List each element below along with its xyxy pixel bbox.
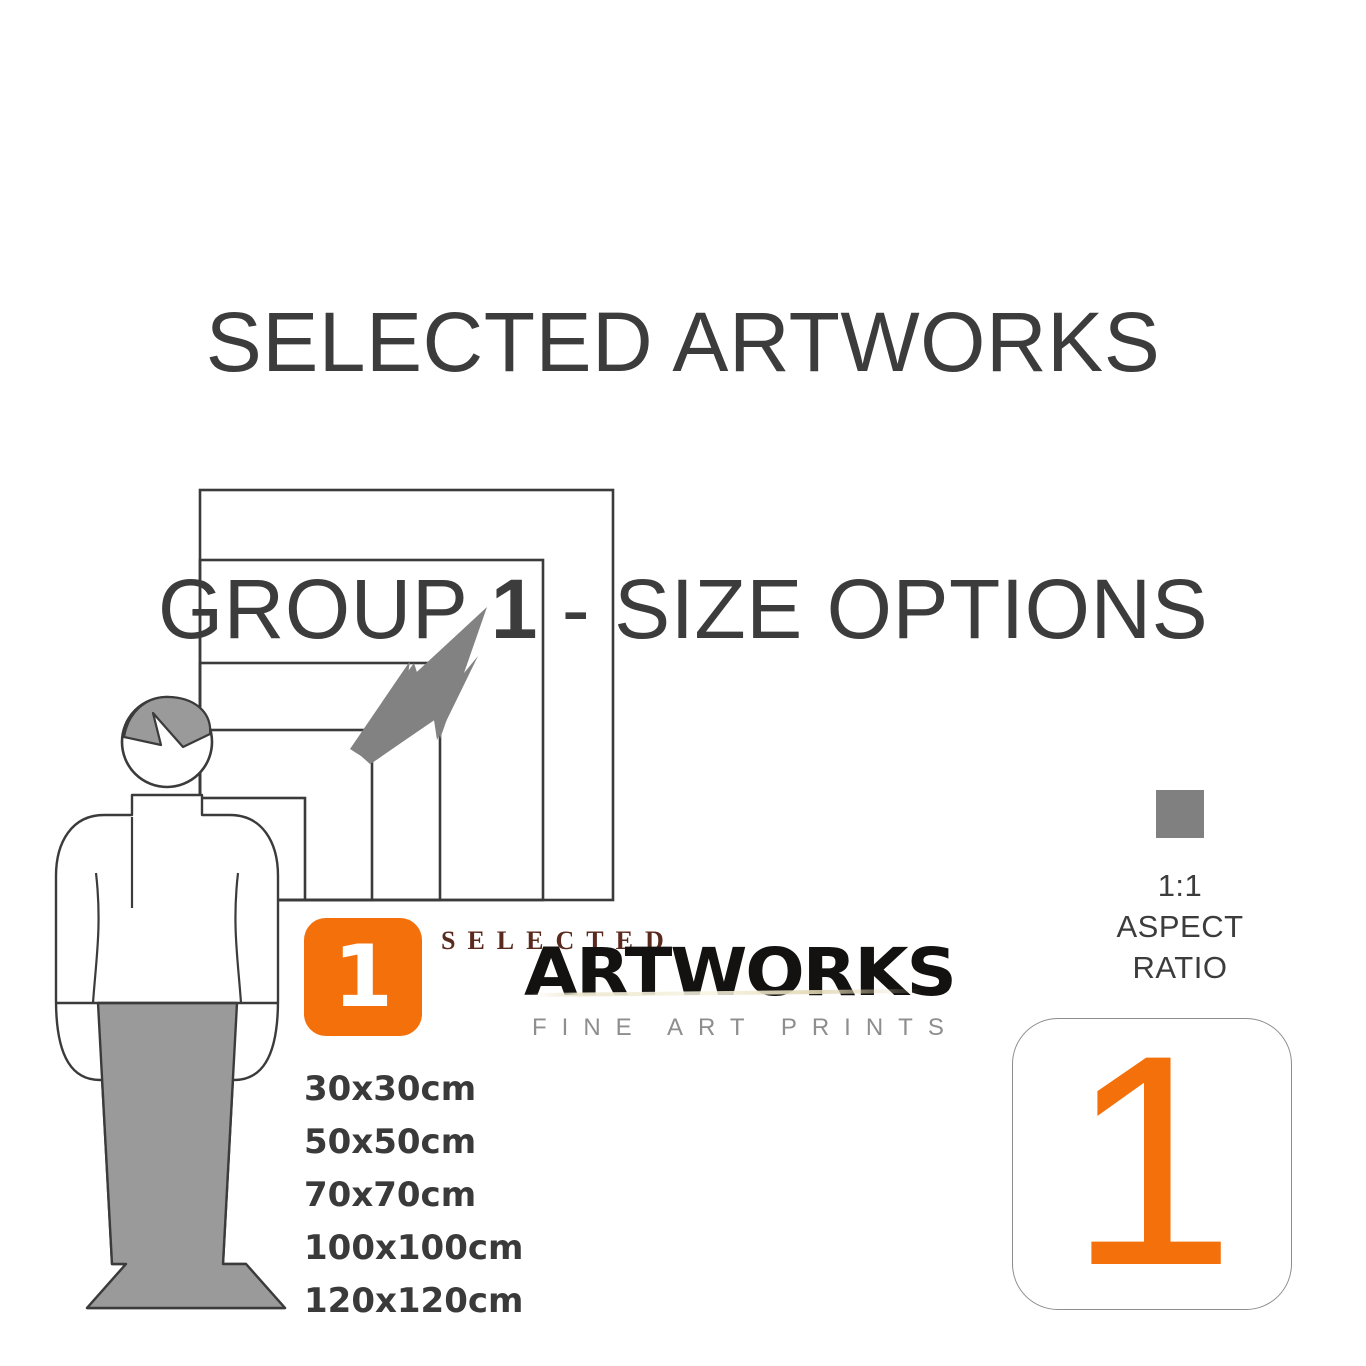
aspect-label-line-2: RATIO [1030, 948, 1330, 989]
size-option: 120x120cm [304, 1275, 523, 1328]
aspect-label-line-1: ASPECT [1030, 907, 1330, 948]
size-option: 70x70cm [304, 1169, 523, 1222]
title-group-word: GROUP [158, 562, 491, 656]
size-option: 30x30cm [304, 1063, 523, 1116]
logo-group-badge-number: 1 [304, 918, 422, 1036]
size-option: 100x100cm [304, 1222, 523, 1275]
person-seam-left [93, 873, 99, 1003]
title-group-number: 1 [491, 562, 538, 656]
aspect-ratio-swatch-icon [1156, 790, 1204, 838]
logo-group-badge: 1 [304, 918, 422, 1036]
page-title: SELECTED ARTWORKS GROUP 1 - SIZE OPTIONS [0, 120, 1366, 832]
person-seam-right [235, 873, 241, 1003]
title-size-options: - SIZE OPTIONS [538, 562, 1208, 656]
poster-canvas: SELECTED ARTWORKS GROUP 1 - SIZE OPTIONS [0, 0, 1366, 1366]
size-option: 50x50cm [304, 1116, 523, 1169]
group-number-value: 1 [1013, 1019, 1291, 1309]
person-torso [56, 795, 278, 1080]
aspect-ratio-value: 1:1 [1030, 866, 1330, 907]
logo-tagline-text: FINE ART PRINTS [532, 1014, 959, 1042]
title-line-1: SELECTED ARTWORKS [0, 298, 1366, 387]
brand-logo: 1 SELECTED ARTWORKS FINE ART PRINTS [304, 916, 944, 1046]
person-skirt [87, 1003, 285, 1308]
group-number-card: 1 [1012, 1018, 1292, 1310]
person-skirt-front [87, 1003, 285, 1308]
logo-wordmark: SELECTED ARTWORKS FINE ART PRINTS [432, 916, 944, 1046]
size-options-list: 30x30cm 50x50cm 70x70cm 100x100cm 120x12… [304, 1063, 523, 1328]
aspect-ratio-label: 1:1 ASPECT RATIO [1030, 866, 1330, 989]
aspect-ratio-block: 1:1 ASPECT RATIO [1030, 790, 1330, 989]
title-line-2: GROUP 1 - SIZE OPTIONS [0, 565, 1366, 654]
